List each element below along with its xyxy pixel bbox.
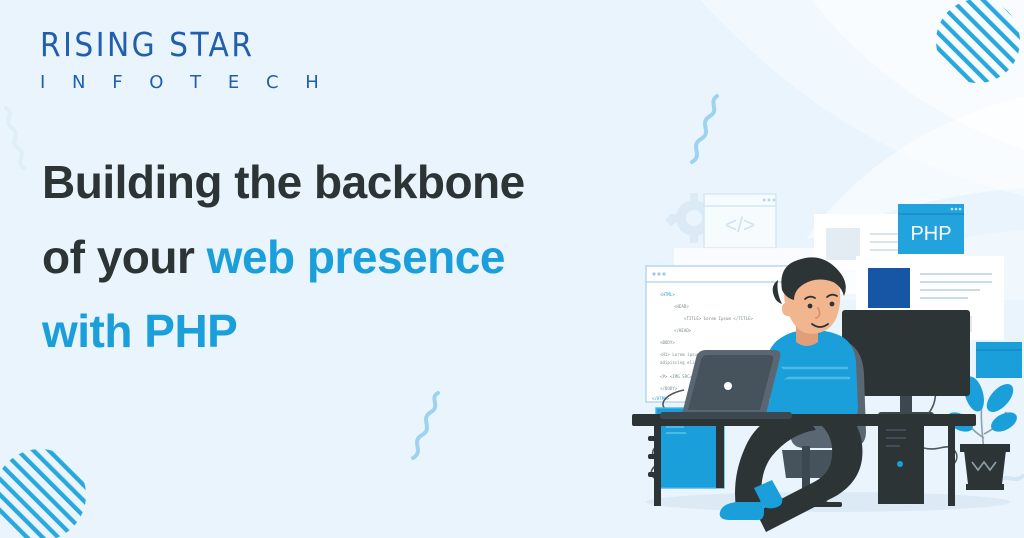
hero-banner: RISING STAR I N F O T E C H Building the… [0, 0, 1024, 538]
code-icon-window: </> [704, 194, 776, 248]
svg-text:</HEAD>: </HEAD> [674, 328, 692, 333]
svg-text:<BODY>: <BODY> [660, 340, 675, 345]
svg-text:<TITLE> Lorem Ipsum </TITLE>: <TITLE> Lorem Ipsum </TITLE> [684, 316, 754, 321]
hero-illustration: </> PHP [632, 150, 1024, 538]
svg-text:<HTML>: <HTML> [660, 292, 675, 297]
squiggle-bottom-mid [413, 393, 438, 458]
squiggle-left [6, 108, 24, 168]
headline-line-2-accent: web presence [207, 231, 505, 283]
side-blue-window [976, 342, 1022, 378]
headline-line-3: with PHP [42, 294, 662, 369]
headline-line-2: of your web presence [42, 220, 662, 295]
stripe-circle-bottom-left [0, 445, 94, 538]
headline-line-1: Building the backbone [42, 145, 662, 220]
logo-wordmark: RISING STAR [40, 28, 329, 61]
php-card-label: PHP [910, 223, 951, 245]
page-title: Building the backbone of your web presen… [42, 145, 662, 369]
svg-text:</BODY>: </BODY> [660, 386, 678, 391]
brand-logo[interactable]: RISING STAR I N F O T E C H [40, 28, 329, 93]
pc-tower [878, 418, 924, 504]
php-card: PHP [898, 204, 964, 254]
code-glyph: </> [725, 214, 755, 237]
svg-text:<HEAD>: <HEAD> [674, 304, 689, 309]
headline-line-2-plain: of your [42, 231, 207, 283]
logo-tagline: I N F O T E C H [40, 72, 329, 93]
